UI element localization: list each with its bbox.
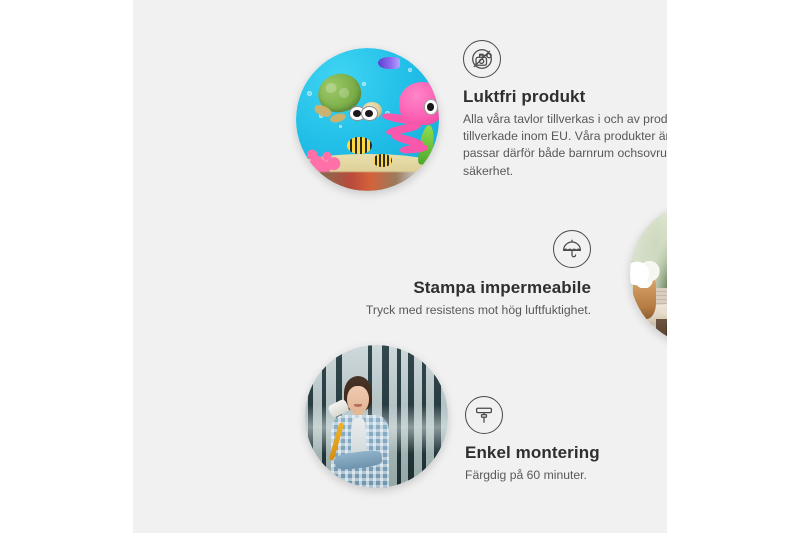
ocean-octopus: [385, 82, 439, 156]
bathroom-vanity-cabinet: [656, 319, 667, 345]
screenshot-root: Luktfri produkt Alla våra tavlor tillver…: [0, 0, 800, 533]
paint-roller-icon: [465, 396, 503, 434]
feature-odorless-icon-wrap: [463, 40, 667, 78]
feature-waterproof-title: Stampa impermeabile: [343, 278, 591, 298]
ocean-turtle: [313, 71, 379, 131]
photo-ocean: [296, 48, 439, 191]
photo-forest-inner: [305, 345, 448, 488]
umbrella-icon: [553, 230, 591, 268]
feature-waterproof: Stampa impermeabile Tryck med resistens …: [343, 230, 591, 319]
bathroom-flowers: [630, 259, 661, 288]
feature-easy-mounting-title: Enkel montering: [465, 443, 667, 463]
ocean-coral: [305, 137, 345, 174]
feature-odorless: Luktfri produkt Alla våra tavlor tillver…: [463, 40, 667, 180]
feature-easy-mounting-body: Färgdig på 60 minuter.: [465, 467, 667, 484]
no-fragrance-icon: [463, 40, 501, 78]
photo-ocean-inner: [296, 48, 439, 191]
feature-waterproof-body: Tryck med resistens mot hög luftfuktighe…: [343, 302, 591, 319]
photo-bathroom-inner: [630, 202, 667, 345]
ocean-fish-blue: [378, 57, 401, 70]
ocean-fish-yellow-2: [373, 154, 392, 167]
feature-easy-mounting: Enkel montering Färgdig på 60 minuter.: [465, 396, 667, 484]
feature-waterproof-icon-wrap: [343, 230, 591, 268]
photo-forest: [305, 345, 448, 488]
forest-woman: [328, 376, 400, 488]
feature-odorless-body: Alla våra tavlor tillverkas i och av pro…: [463, 111, 667, 180]
photo-bathroom: [630, 202, 667, 345]
content-panel: Luktfri produkt Alla våra tavlor tillver…: [133, 0, 667, 533]
feature-easy-mounting-icon-wrap: [465, 396, 667, 434]
ocean-fish-yellow-1: [347, 137, 371, 154]
feature-odorless-title: Luktfri produkt: [463, 87, 667, 107]
ocean-bottom-strip: [296, 172, 439, 191]
